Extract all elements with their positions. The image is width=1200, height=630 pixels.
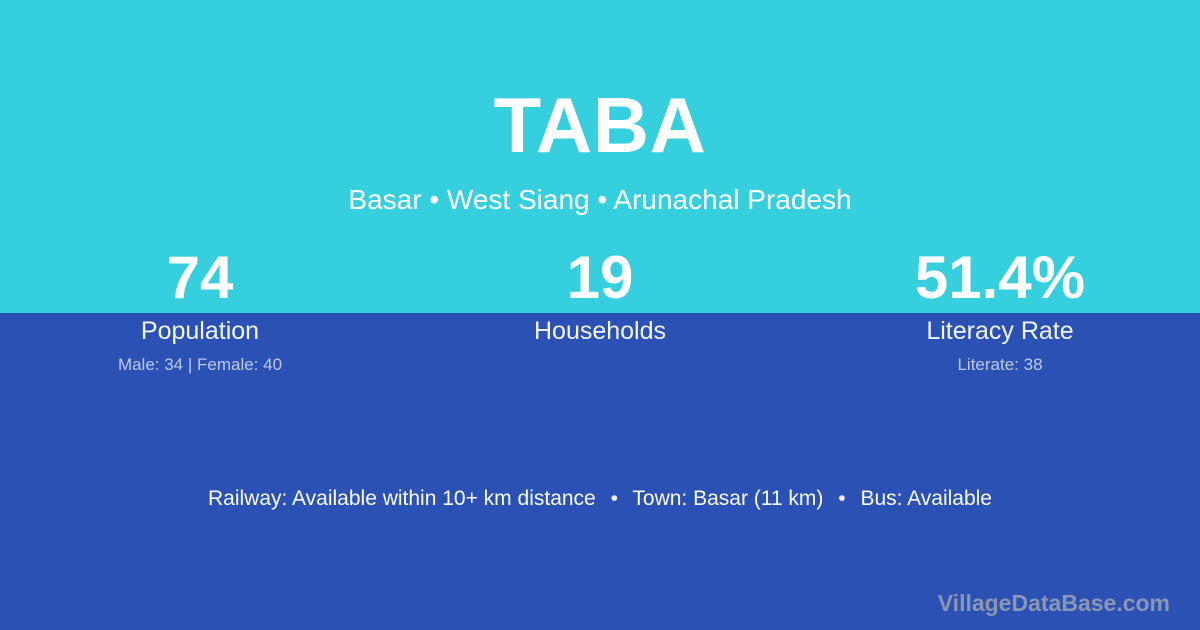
stat-sub-households	[400, 354, 800, 376]
info-separator-1: •	[602, 487, 627, 510]
stat-population: 74 Population Male: 34 | Female: 40	[0, 243, 400, 376]
stat-sub-literacy-rate: Literate: 38	[800, 354, 1200, 376]
stats-row: 74 Population Male: 34 | Female: 40 19 H…	[0, 243, 1200, 376]
amenities-line: Railway: Available within 10+ km distanc…	[0, 484, 1200, 514]
stat-literacy-rate: 51.4% Literacy Rate Literate: 38	[800, 243, 1200, 376]
stat-value-literacy-rate: 51.4%	[800, 243, 1200, 313]
breadcrumb: Basar • West Siang • Arunachal Pradesh	[0, 181, 1200, 219]
village-info-card: TABA Basar • West Siang • Arunachal Prad…	[0, 0, 1200, 630]
stat-value-households: 19	[400, 243, 800, 313]
stat-value-population: 74	[0, 243, 400, 313]
stat-label-population: Population	[0, 315, 400, 347]
info-separator-2: •	[829, 487, 854, 510]
site-brand: VillageDataBase.com	[938, 588, 1170, 618]
stat-households: 19 Households	[400, 243, 800, 376]
stat-label-literacy-rate: Literacy Rate	[800, 315, 1200, 347]
bus-info: Bus: Available	[860, 487, 992, 510]
stat-sub-population: Male: 34 | Female: 40	[0, 354, 400, 376]
stat-label-households: Households	[400, 315, 800, 347]
page-title: TABA	[0, 79, 1200, 171]
town-info: Town: Basar (11 km)	[632, 487, 823, 510]
railway-info: Railway: Available within 10+ km distanc…	[208, 487, 596, 510]
